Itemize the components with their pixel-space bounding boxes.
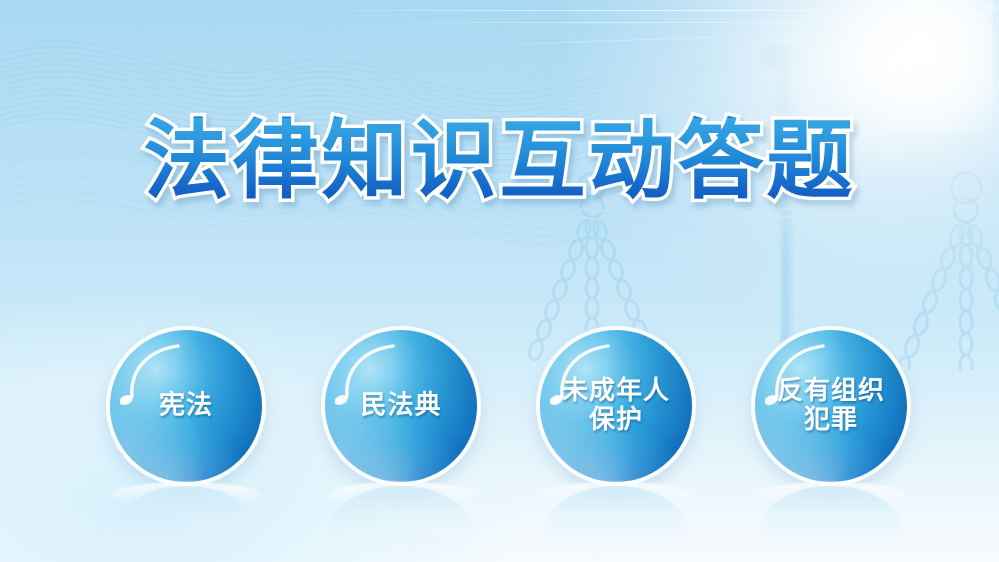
orb-anti-organized-crime-sphere[interactable]: 反有组织 犯罪 xyxy=(755,330,907,482)
orb-constitution-sphere[interactable]: 宪法 xyxy=(110,330,262,482)
page-title-outline: 法律知识互动答题 xyxy=(144,118,856,204)
light-ray-icon xyxy=(716,0,999,10)
light-ray-icon xyxy=(484,0,969,5)
orb-civil-code-label: 民法典 xyxy=(325,391,477,420)
light-streak-icon xyxy=(300,10,940,11)
orb-constitution[interactable]: 宪法 xyxy=(110,330,262,562)
orb-bottom-light xyxy=(119,418,253,482)
orb-minor-protection[interactable]: 未成年人 保护 xyxy=(540,330,692,562)
page-title-wrap: 法律知识互动答题 法律知识互动答题 xyxy=(0,118,999,204)
orb-minor-protection-label: 未成年人 保护 xyxy=(540,377,692,435)
orb-anti-organized-crime[interactable]: 反有组织 犯罪 xyxy=(755,330,907,562)
quiz-landing-page: 法律知识互动答题 法律知识互动答题 宪法 xyxy=(0,0,999,562)
orb-civil-code-sphere[interactable]: 民法典 xyxy=(325,330,477,482)
light-ray-icon xyxy=(687,0,979,31)
orb-minor-protection-sphere[interactable]: 未成年人 保护 xyxy=(540,330,692,482)
light-burst-icon xyxy=(569,0,999,310)
orb-bottom-light xyxy=(334,418,468,482)
light-ray-icon xyxy=(735,0,939,61)
light-streak-icon xyxy=(430,33,810,47)
orb-civil-code[interactable]: 民法典 xyxy=(325,330,477,562)
category-orb-row: 宪法 民法典 xyxy=(0,330,999,562)
orb-anti-organized-crime-label: 反有组织 犯罪 xyxy=(755,377,907,435)
orb-constitution-label: 宪法 xyxy=(110,391,262,420)
light-burst-core-icon xyxy=(813,0,993,134)
scales-of-justice-icon xyxy=(520,0,999,370)
light-ray-icon xyxy=(656,0,959,49)
light-streak-icon xyxy=(360,22,880,23)
light-ray-icon xyxy=(617,0,989,20)
flowing-wave-lines-icon xyxy=(0,0,600,300)
page-title: 法律知识互动答题 xyxy=(144,118,856,204)
